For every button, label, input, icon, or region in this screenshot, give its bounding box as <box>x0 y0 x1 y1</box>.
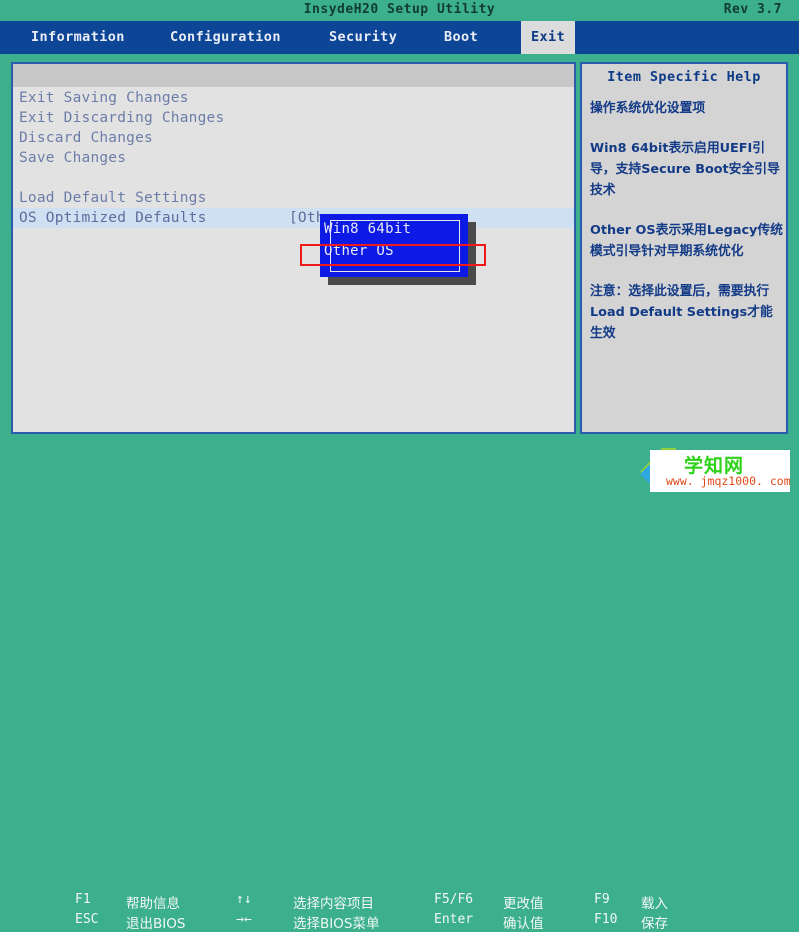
option-label: OS Optimized Defaults <box>19 210 207 226</box>
tab-security[interactable]: Security <box>319 21 407 54</box>
key-esc: ESC <box>75 912 98 927</box>
option-save-changes[interactable]: Save Changes <box>13 148 574 168</box>
panel-top-strip <box>13 64 574 87</box>
option-label: Save Changes <box>19 150 126 166</box>
watermark-url: www. jmqz1000. com <box>666 474 790 488</box>
app-title: InsydeH20 Setup Utility <box>0 2 799 17</box>
bios-setup-screen: InsydeH20 Setup Utility Rev 3.7 Informat… <box>0 0 799 497</box>
key-leftright-desc: 选择BIOS菜单 <box>293 912 379 932</box>
key-f9: F9 <box>594 892 610 907</box>
help-paragraph: Other OS表示采用Legacy传统模式引导针对早期系统优化 <box>590 220 784 262</box>
key-f9-desc: 载入 <box>641 892 668 912</box>
key-enter: Enter <box>434 912 473 927</box>
options-panel: Exit Saving Changes Exit Discarding Chan… <box>11 62 576 434</box>
key-f5f6: F5/F6 <box>434 892 473 907</box>
tab-boot[interactable]: Boot <box>434 21 488 54</box>
option-exit-discarding-changes[interactable]: Exit Discarding Changes <box>13 108 574 128</box>
tab-configuration[interactable]: Configuration <box>160 21 291 54</box>
key-f5f6-desc: 更改值 <box>503 892 544 912</box>
key-esc-desc: 退出BIOS <box>126 912 185 932</box>
key-f10-desc: 保存 <box>641 912 668 932</box>
key-f10: F10 <box>594 912 617 927</box>
key-updown-desc: 选择内容项目 <box>293 892 374 912</box>
key-f1: F1 <box>75 892 91 907</box>
key-f1-desc: 帮助信息 <box>126 892 180 912</box>
option-label: Exit Saving Changes <box>19 90 189 106</box>
key-enter-desc: 确认值 <box>503 912 544 932</box>
option-label: Load Default Settings <box>19 190 207 206</box>
revision-label: Rev 3.7 <box>724 2 782 17</box>
help-paragraph: 注意：选择此设置后，需要执行Load Default Settings才能生效 <box>590 281 784 344</box>
option-os-optimized-defaults[interactable]: OS Optimized Defaults [Othe <box>13 208 574 228</box>
help-paragraph: 操作系统优化设置项 <box>590 98 784 119</box>
annotation-highlight-box <box>300 244 486 266</box>
help-panel-body: 操作系统优化设置项 Win8 64bit表示启用UEFI引导，支持Secure … <box>590 98 784 344</box>
help-panel-title: Item Specific Help <box>582 64 786 91</box>
watermark: 学知网 www. jmqz1000. com <box>650 450 790 492</box>
option-label: Exit Discarding Changes <box>19 110 224 126</box>
item-specific-help-panel: Item Specific Help 操作系统优化设置项 Win8 64bit表… <box>580 62 788 434</box>
key-leftright: →← <box>236 912 252 927</box>
option-label: Discard Changes <box>19 130 153 146</box>
dropdown-option-win8-64bit[interactable]: Win8 64bit <box>324 218 411 240</box>
tab-exit[interactable]: Exit <box>521 21 575 54</box>
option-spacer <box>13 168 574 188</box>
menu-bar: Information Configuration Security Boot … <box>0 21 799 54</box>
tab-information[interactable]: Information <box>21 21 135 54</box>
option-load-default-settings[interactable]: Load Default Settings <box>13 188 574 208</box>
help-paragraph: Win8 64bit表示启用UEFI引导，支持Secure Boot安全引导技术 <box>590 138 784 201</box>
title-bar: InsydeH20 Setup Utility Rev 3.7 <box>0 0 799 21</box>
option-discard-changes[interactable]: Discard Changes <box>13 128 574 148</box>
option-exit-saving-changes[interactable]: Exit Saving Changes <box>13 88 574 108</box>
options-list: Exit Saving Changes Exit Discarding Chan… <box>13 88 574 228</box>
key-updown: ↑↓ <box>236 892 252 907</box>
